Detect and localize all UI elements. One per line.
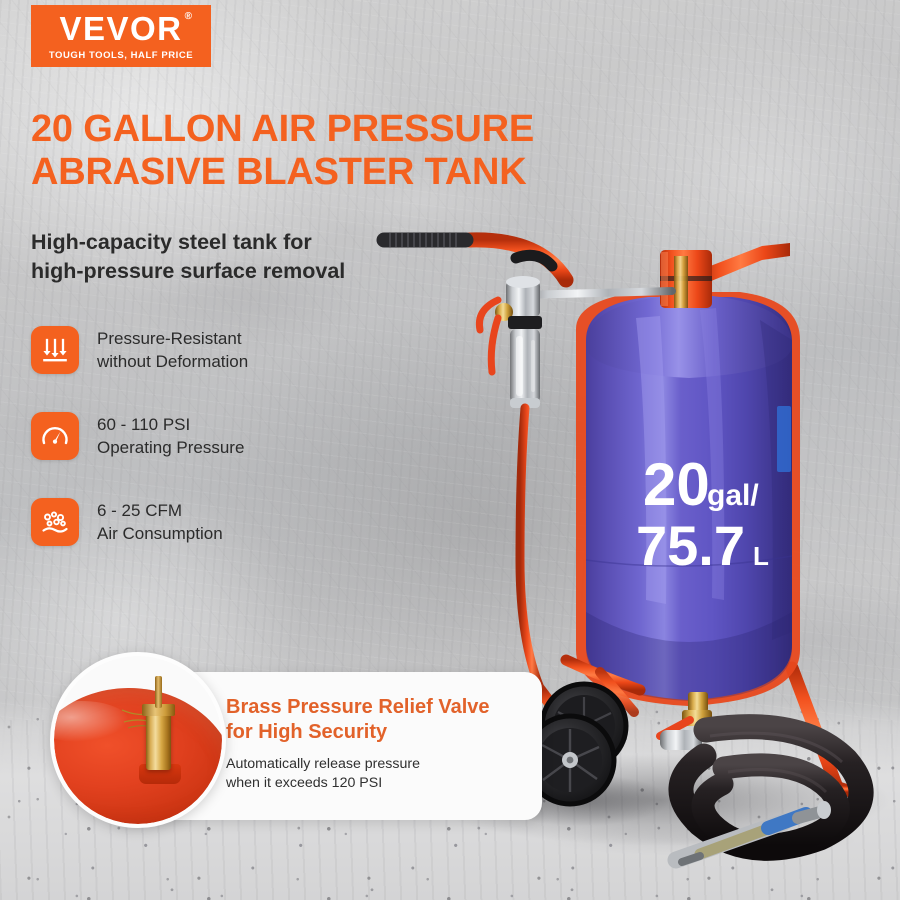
relief-valve-photo xyxy=(50,652,226,828)
svg-text:L: L xyxy=(753,541,769,571)
feature-text: 6 - 25 CFM Air Consumption xyxy=(97,499,223,545)
pressure-arrows-icon xyxy=(31,326,79,374)
registered-trademark-icon: ® xyxy=(185,12,194,22)
brass-valve-body xyxy=(146,712,171,770)
feature-item-air-consumption: 6 - 25 CFM Air Consumption xyxy=(31,498,248,546)
logo-wordmark: VEVOR® xyxy=(59,12,182,45)
air-hose-red xyxy=(520,408,540,688)
feature-line-2: Operating Pressure xyxy=(97,436,244,459)
gauge-icon xyxy=(31,412,79,460)
brass-valve-stem xyxy=(155,676,162,708)
feature-list: Pressure-Resistant without Deformation 6… xyxy=(31,326,248,584)
callout-desc-line-2: when it exceeds 120 PSI xyxy=(226,774,526,793)
air-bubbles-icon xyxy=(31,498,79,546)
vevor-logo: VEVOR® TOUGH TOOLS, HALF PRICE xyxy=(31,5,211,67)
feature-line-1: Pressure-Resistant xyxy=(97,327,248,350)
svg-text:20: 20 xyxy=(643,451,710,518)
feature-line-2: without Deformation xyxy=(97,350,248,373)
subheadline-line-1: High-capacity steel tank for xyxy=(31,230,312,254)
feature-item-pressure-resistant: Pressure-Resistant without Deformation xyxy=(31,326,248,374)
feature-item-operating-pressure: 60 - 110 PSI Operating Pressure xyxy=(31,412,248,460)
feature-line-1: 60 - 110 PSI xyxy=(97,413,244,436)
feature-line-1: 6 - 25 CFM xyxy=(97,499,223,522)
feature-text: 60 - 110 PSI Operating Pressure xyxy=(97,413,244,459)
callout-desc-line-1: Automatically release pressure xyxy=(226,756,420,772)
headline-line-2: ABRASIVE BLASTER TANK xyxy=(31,151,534,194)
callout-title: Brass Pressure Relief Valve for High Sec… xyxy=(226,695,526,745)
moisture-filter-bowl xyxy=(508,316,542,408)
svg-text:75.7: 75.7 xyxy=(636,514,745,577)
callout-title-line-2: for High Security xyxy=(226,720,526,745)
handle-grip xyxy=(384,233,466,247)
page-subtitle: High-capacity steel tank for high-pressu… xyxy=(31,228,345,285)
callout-title-line-1: Brass Pressure Relief Valve xyxy=(226,696,490,718)
svg-text:gal/: gal/ xyxy=(707,479,759,512)
feature-line-2: Air Consumption xyxy=(97,522,223,545)
logo-tagline: TOUGH TOOLS, HALF PRICE xyxy=(49,50,193,61)
subheadline-line-2: high-pressure surface removal xyxy=(31,257,345,286)
callout-description: Automatically release pressure when it e… xyxy=(226,755,526,792)
page-title: 20 GALLON AIR PRESSURE ABRASIVE BLASTER … xyxy=(31,108,534,194)
headline-line-1: 20 GALLON AIR PRESSURE xyxy=(31,108,534,150)
feature-text: Pressure-Resistant without Deformation xyxy=(97,327,248,373)
tank-sticker xyxy=(777,406,791,472)
